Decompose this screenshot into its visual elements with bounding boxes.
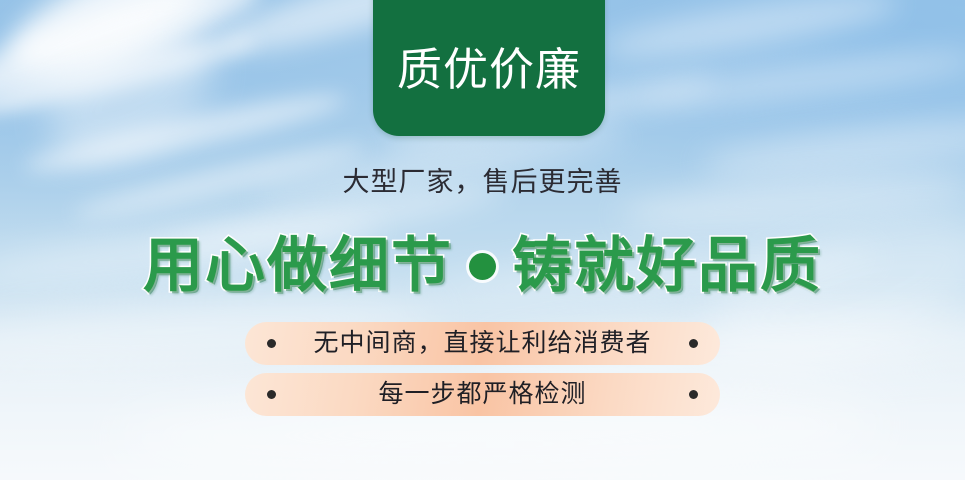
feature-pill-2-label: 每一步都严格检测 (276, 382, 689, 407)
feature-pill-1: 无中间商，直接让利给消费者 (245, 322, 720, 365)
headline-right-text: 铸就好品质 (512, 236, 822, 296)
feature-pill-2: 每一步都严格检测 (245, 373, 720, 416)
green-dot-separator-icon (469, 253, 496, 280)
feature-pill-1-label: 无中间商，直接让利给消费者 (276, 331, 689, 356)
bullet-dot-icon (267, 390, 276, 399)
bullet-dot-icon (689, 339, 698, 348)
promo-banner: 质优价廉 大型厂家，售后更完善 用心做细节 铸就好品质 无中间商，直接让利给消费… (0, 0, 965, 480)
quality-badge: 质优价廉 (373, 0, 605, 136)
banner-content: 质优价廉 大型厂家，售后更完善 用心做细节 铸就好品质 无中间商，直接让利给消费… (0, 0, 965, 480)
bullet-dot-icon (267, 339, 276, 348)
headline-left-text: 用心做细节 (143, 236, 453, 296)
bullet-dot-icon (689, 390, 698, 399)
banner-headline: 用心做细节 铸就好品质 (0, 228, 965, 304)
quality-badge-label: 质优价廉 (397, 47, 581, 92)
banner-subtitle: 大型厂家，售后更完善 (0, 166, 965, 198)
